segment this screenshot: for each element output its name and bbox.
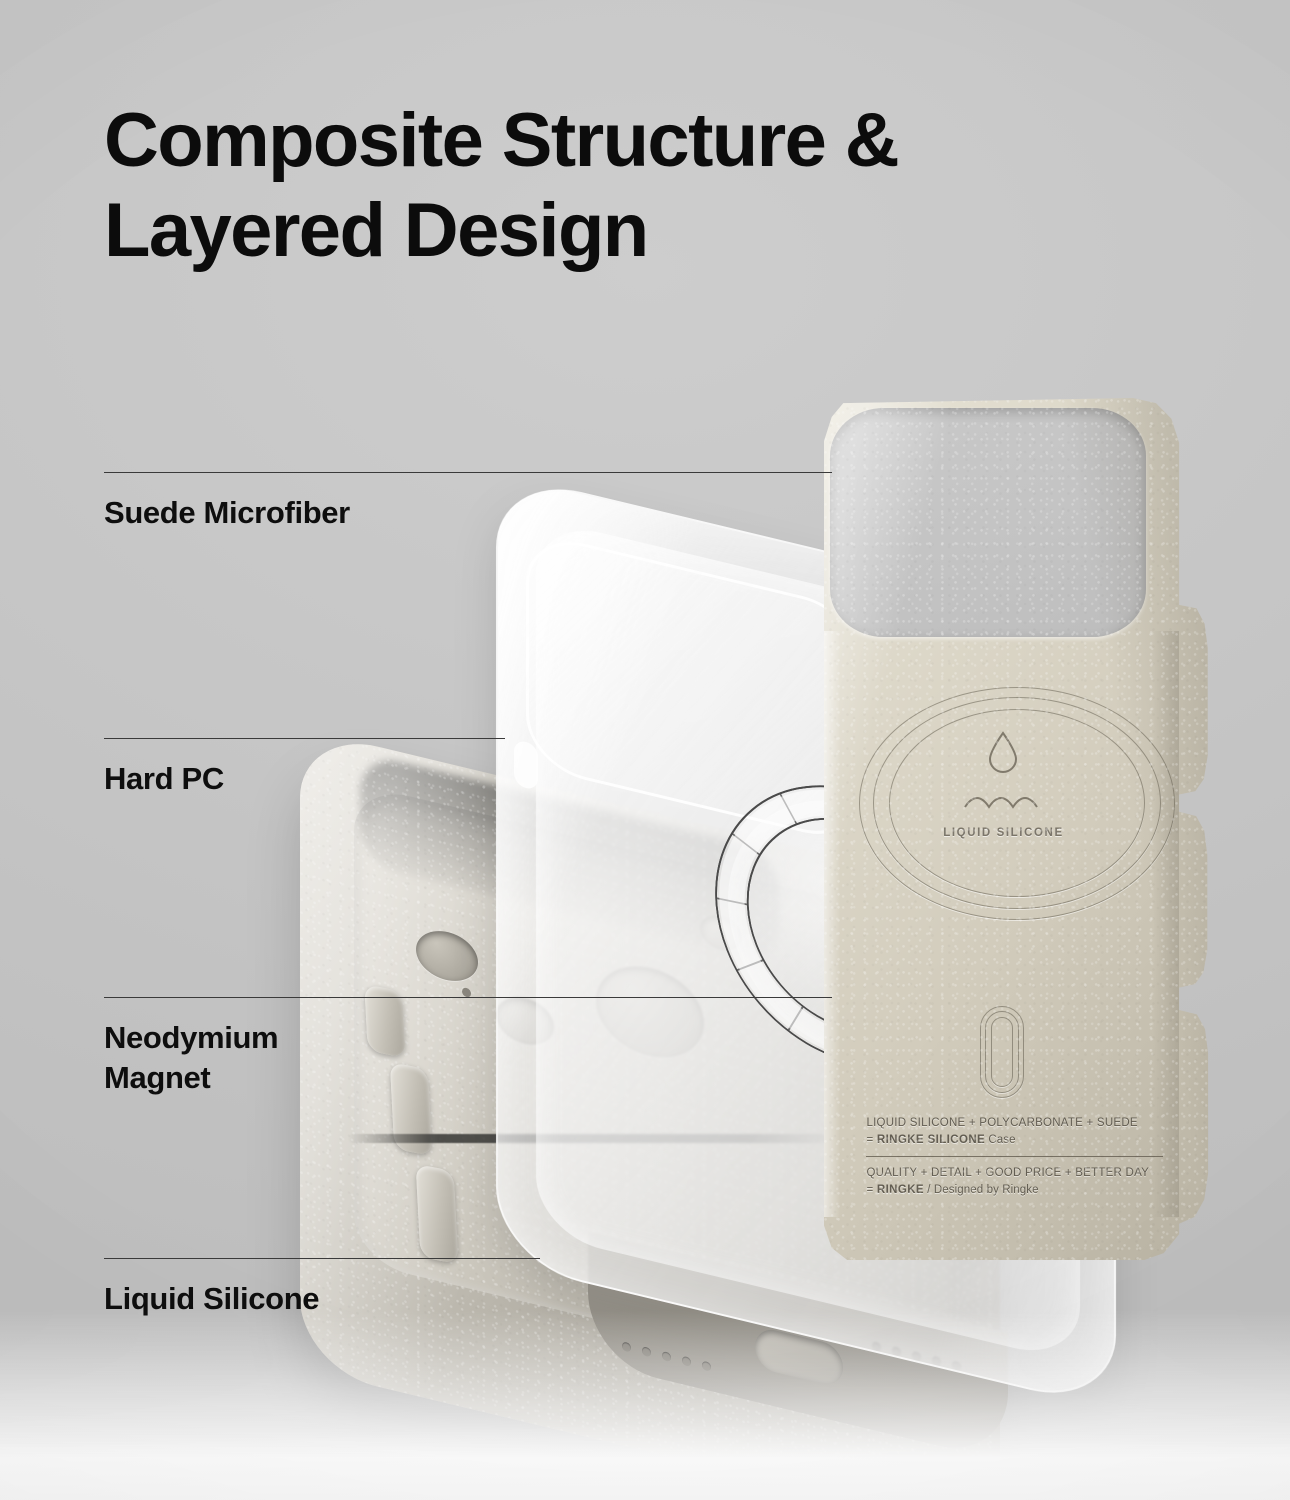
callout-rule [104,997,832,998]
page-title-line-1: Composite Structure & [104,96,1224,186]
callout-label: Hard PC [104,760,224,798]
callout-rule [104,472,832,473]
callout-label-line-2: Magnet [104,1059,210,1097]
callout-label: Liquid Silicone [104,1280,319,1318]
callout-rule [104,1258,540,1259]
product-feature-graphic: LIQUID SILICONE LIQUID SILICONE + POLYCA… [0,0,1290,1500]
callout-rule [104,738,505,739]
callout-label: Suede Microfiber [104,494,350,532]
page-title: Composite Structure & Layered Design [104,96,1224,277]
page-title-line-2: Layered Design [104,186,1224,276]
callout-label: Neodymium [104,1019,278,1057]
